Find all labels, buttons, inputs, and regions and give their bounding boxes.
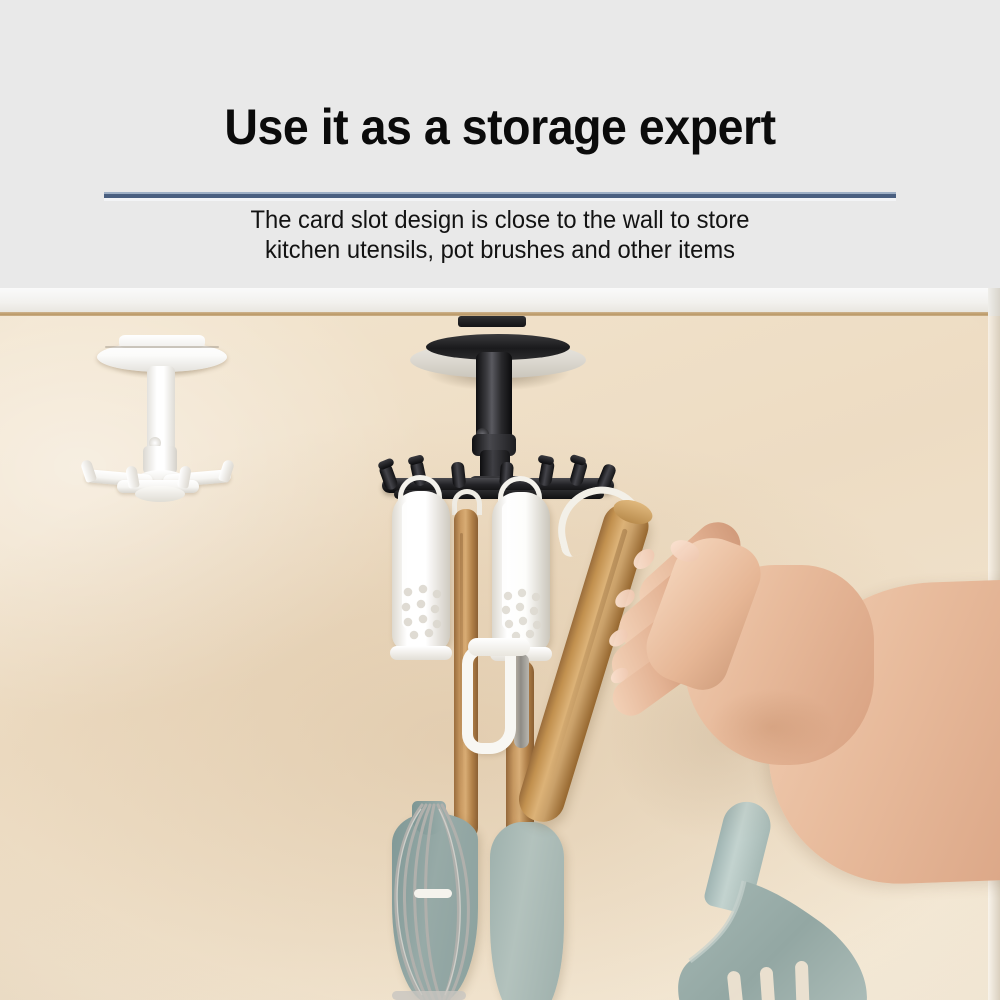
title-divider [104, 192, 896, 201]
whisk-wires [388, 803, 518, 1000]
peeler-body [462, 644, 516, 754]
fingernail [630, 545, 659, 573]
header-banner: Use it as a storage expert The card slot… [0, 0, 1000, 288]
kitchen-cabinet-underside [0, 288, 1000, 314]
subtitle: The card slot design is close to the wal… [25, 205, 975, 265]
product-photo [0, 288, 1000, 1000]
hub-cap [135, 486, 185, 502]
hand-holding-turner [600, 543, 1000, 883]
white-rotating-hook-rack[interactable] [83, 330, 233, 515]
hook-tip[interactable] [218, 459, 235, 483]
hook-tip[interactable] [80, 459, 97, 483]
hook-lip [537, 454, 554, 465]
grip-collar [390, 646, 452, 660]
grip-texture-dots [396, 583, 452, 641]
grip-texture-dots [496, 588, 556, 644]
turner-blade [670, 875, 885, 1000]
product-promo-image: Use it as a storage expert The card slot… [0, 0, 1000, 1000]
palm-shading [700, 683, 880, 793]
hook-lip [569, 454, 587, 467]
peeler-top-bar [468, 638, 530, 656]
subtitle-line-2: kitchen utensils, pot brushes and other … [25, 235, 975, 265]
subtitle-line-1: The card slot design is close to the wal… [25, 205, 975, 235]
cabinet-right-edge [988, 288, 1000, 318]
divider-shadow [104, 198, 896, 201]
page-title: Use it as a storage expert [35, 98, 965, 156]
mount-pad [458, 316, 526, 327]
disc-seam [105, 346, 219, 348]
peeler-blade [514, 654, 529, 748]
